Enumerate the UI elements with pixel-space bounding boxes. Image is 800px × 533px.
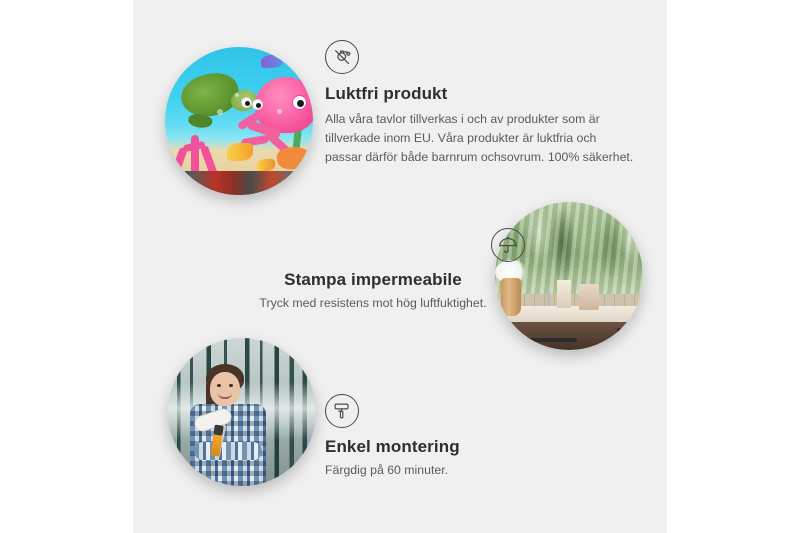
woman-crossed-arms <box>194 442 262 460</box>
features-panel: Luktfri produkt Alla våra tavlor tillver… <box>133 0 667 533</box>
feature-title-easy-mounting: Enkel montering <box>325 436 625 457</box>
woman-eye-right <box>229 384 233 387</box>
yellow-fish-shape <box>257 159 275 171</box>
woman-eye-left <box>217 384 221 387</box>
feature-body-odourless: Alla våra tavlor tillverkas i och av pro… <box>325 110 635 166</box>
underwater-cartoon-mural-photo[interactable] <box>165 47 313 195</box>
feature-block-waterproof: Stampa impermeabile Tryck med resistens … <box>213 228 533 313</box>
faucet <box>547 290 550 306</box>
purple-fish-shape <box>261 55 283 68</box>
woman-face <box>210 372 240 406</box>
feature-block-easy-mounting: Enkel montering Färgdig på 60 minuter. <box>325 394 625 480</box>
screenshot-root: Luktfri produkt Alla våra tavlor tillver… <box>0 0 800 533</box>
feature-title-odourless: Luktfri produkt <box>325 83 635 104</box>
candle <box>557 280 571 308</box>
turtle-eye-left <box>241 97 252 108</box>
umbrella-icon <box>491 228 525 262</box>
soap-dispenser <box>579 284 599 310</box>
feature-body-waterproof: Tryck med resistens mot hög luftfuktighe… <box>213 294 533 313</box>
feature-title-waterproof: Stampa impermeabile <box>213 269 533 290</box>
feature-body-easy-mounting: Färgdig på 60 minuter. <box>325 461 625 480</box>
bubble <box>235 93 239 97</box>
bubble <box>277 109 282 114</box>
room-foreground-strip <box>165 171 313 195</box>
feature-block-odourless: Luktfri produkt Alla våra tavlor tillver… <box>325 40 635 166</box>
yellow-fish-shape <box>227 143 253 161</box>
wooden-vanity-cabinet <box>495 322 643 350</box>
turtle-eye-right <box>252 99 263 110</box>
paint-roller-icon <box>325 394 359 428</box>
octopus-eye <box>292 95 307 110</box>
bubble <box>217 109 223 115</box>
woman-with-paint-roller-forest-photo[interactable] <box>168 338 316 486</box>
no-odour-perfume-bottle-icon <box>325 40 359 74</box>
